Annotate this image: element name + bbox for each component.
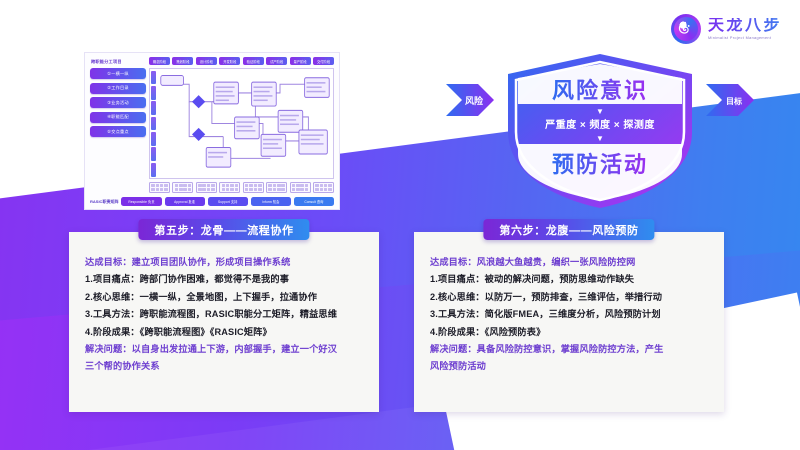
diagram-phase-6: 量产阶段 [290,57,311,65]
step-five-tools: 3.工具方法：跨职能流程图，RASIC职能分工矩阵，精益思维 [85,310,363,320]
arrow-risk-in: 风险 [446,84,494,116]
diagram-swimlane [151,163,156,177]
diagram-role-3: ④职能匹配 [90,112,146,123]
step-five-painpoint: 1.项目痛点：跨部门协作困难，都觉得不是我的事 [85,275,363,285]
diagram-left-title: 跨职能分工项目 [91,59,146,65]
diagram-role-2: ③业务活动 [90,97,146,108]
rasic-flowchart-image: 跨职能分工项目 ①一横一纵 ②工作目录 ③业务活动 ④职能匹配 ⑤交点重点 概念… [84,52,340,210]
diagram-phase-0: 概念阶段 [149,57,170,65]
diagram-legend-tag-support: Support 支持 [208,197,248,206]
diagram-swimlane [151,132,156,146]
step-six-title: 第六步：龙腹——风险预防 [483,219,654,240]
diagram-deliverable-doc [266,182,287,193]
diagram-deliverable-row [149,182,334,193]
diagram-swimlane [151,71,156,85]
shield-bottom-text: 预防活动 [552,152,648,177]
diagram-role-0: ①一横一纵 [90,68,146,79]
arrow-goal-out: 目标 [706,84,754,116]
logo-subtitle-en: Minimalist Project Management [708,37,786,41]
diagram-deliverable-doc [172,182,193,193]
diagram-deliverable-doc [313,182,334,193]
diagram-phase-2: 设计阶段 [196,57,217,65]
shield-top-text: 风险意识 [552,78,648,103]
risk-shield-graphic: 风险 目标 风险意识 ▼ 严重度 × 频度 × 探测度 ▼ 预防活动 [432,48,768,212]
diagram-flow-column: 概念阶段 策划阶段 设计阶段 开发阶段 验证阶段 试产阶段 量产阶段 交付阶段 [149,57,334,193]
diagram-legend-tag-approval: Approval 批准 [165,197,205,206]
step-five-goal: 达成目标：建立项目团队协作，形成项目操作系统 [85,258,363,268]
step-five-solution-1: 解决问题：以自身出发拉通上下游，内部握手，建立一个好汉 [85,345,363,355]
step-six-mindset: 2.核心思维：以防万一，预防排查，三维评估，举措行动 [430,293,708,303]
shield-formula: 严重度 × 频度 × 探测度 [544,118,655,131]
diagram-phase-7: 交付阶段 [313,57,334,65]
diagram-deliverable-doc [219,182,240,193]
step-six-outcome: 4.阶段成果：《风险预防表》 [430,328,708,338]
shield-arrow-down-bottom: ▼ [596,134,604,143]
step-six-solution-1: 解决问题：具备风险防控意识，掌握风险防控方法，产生 [430,345,708,355]
arrow-goal-out-label: 目标 [726,96,742,106]
diagram-deliverable-doc [149,182,170,193]
step-six-card: 第六步：龙腹——风险预防 达成目标：风浪越大鱼越贵，编织一张风险防控网 1.项目… [414,232,724,412]
step-six-solution-2: 风险预防活动 [430,362,708,372]
arrow-risk-in-label: 风险 [465,95,484,106]
step-five-outcome: 4.阶段成果：《跨职能流程图》《RASIC矩阵》 [85,328,363,338]
diagram-legend-tag-responsible: Responsible 负责 [121,197,161,206]
diagram-swimlane [151,101,156,115]
diagram-role-column: 跨职能分工项目 ①一横一纵 ②工作目录 ③业务活动 ④职能匹配 ⑤交点重点 [90,57,146,193]
diagram-swimlane-strip [150,69,157,178]
diagram-flow-area [157,69,333,178]
diagram-body: 跨职能分工项目 ①一横一纵 ②工作目录 ③业务活动 ④职能匹配 ⑤交点重点 概念… [90,57,334,193]
brand-logo: 天龙八步 Minimalist Project Management [671,14,782,44]
logo-text-block: 天龙八步 Minimalist Project Management [708,18,782,41]
diagram-legend-tag-inform: Inform 知会 [251,197,291,206]
diagram-phase-1: 策划阶段 [172,57,193,65]
step-six-painpoint: 1.项目痛点：被动的解决问题，预防思维动作缺失 [430,275,708,285]
step-five-solution-2: 三个帮的协作关系 [85,362,363,372]
logo-title-cn: 天龙八步 [708,18,782,34]
diagram-role-4: ⑤交点重点 [90,126,146,137]
diagram-phase-4: 验证阶段 [243,57,264,65]
diagram-swimlane [151,147,156,161]
shield-arrow-down-top: ▼ [596,107,604,116]
diagram-role-1: ②工作目录 [90,83,146,94]
step-five-mindset: 2.核心思维：一横一纵，全景地图，上下握手，拉通协作 [85,293,363,303]
diagram-swimlane [151,117,156,131]
diagram-legend-row: RASIC职责矩阵 Responsible 负责 Approval 批准 Sup… [90,197,334,206]
diagram-phase-row: 概念阶段 策划阶段 设计阶段 开发阶段 验证阶段 试产阶段 量产阶段 交付阶段 [149,57,334,65]
dragon-swirl-icon [671,14,701,44]
risk-shield-svg: 风险 目标 风险意识 ▼ 严重度 × 频度 × 探测度 ▼ 预防活动 [432,48,768,212]
dragon-swirl-glyph [677,21,694,38]
diagram-legend-tag-consult: Consult 咨询 [294,197,334,206]
diagram-flow-canvas [149,68,334,179]
diagram-legend-label: RASIC职责矩阵 [90,199,118,205]
diagram-phase-3: 开发阶段 [219,57,240,65]
diagram-deliverable-doc [243,182,264,193]
step-six-goal: 达成目标：风浪越大鱼越贵，编织一张风险防控网 [430,258,708,268]
step-five-card: 第五步：龙骨——流程协作 达成目标：建立项目团队协作，形成项目操作系统 1.项目… [69,232,379,412]
diagram-deliverable-doc [196,182,217,193]
diagram-flow-svg [157,69,333,178]
step-five-title: 第五步：龙骨——流程协作 [138,219,309,240]
step-six-tools: 3.工具方法：简化版FMEA，三维度分析，风险预防计划 [430,310,708,320]
diagram-phase-5: 试产阶段 [266,57,287,65]
diagram-deliverable-doc [290,182,311,193]
diagram-swimlane [151,86,156,100]
